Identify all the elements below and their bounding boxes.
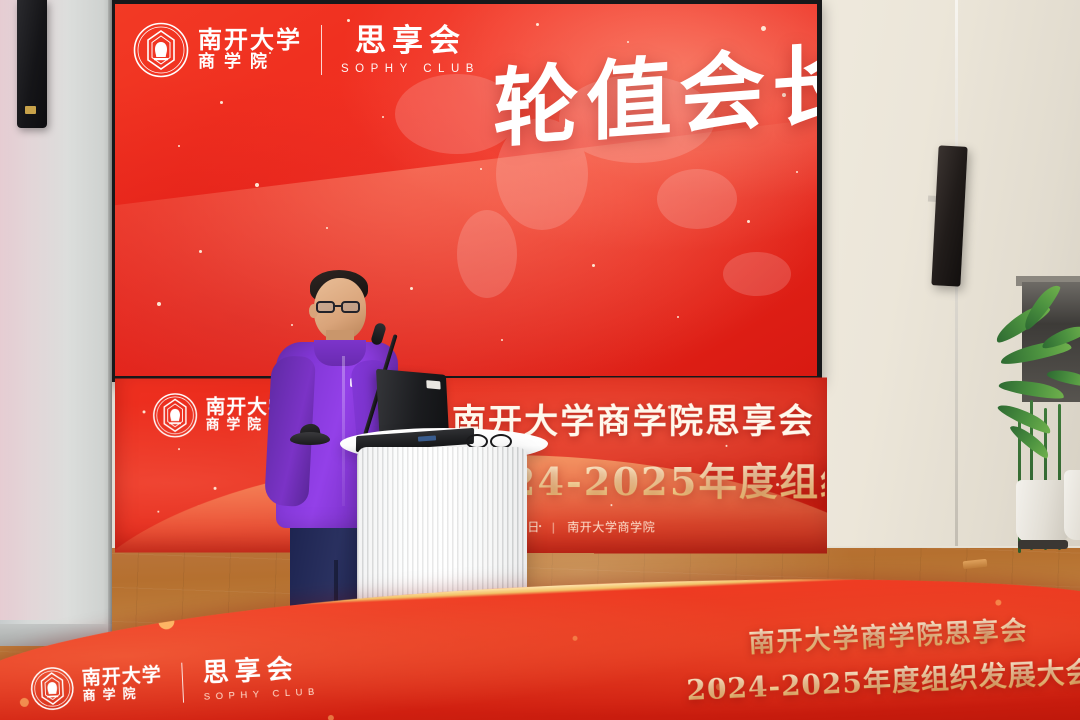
eyeglasses-on-desk-icon xyxy=(466,434,512,446)
club-name-block: 思享会 SOPHY CLUB xyxy=(341,25,480,75)
laptop-sticker xyxy=(426,380,440,389)
school-name-cn: 商学院 xyxy=(82,686,163,705)
plant-pot xyxy=(1016,480,1070,542)
banner-event-title: 南开大学商学院思享会 2024-2025年度组织发展大会 xyxy=(684,607,1080,708)
nankai-seal-icon xyxy=(152,392,197,438)
nankai-seal-icon xyxy=(133,22,189,78)
banner-name-block: 南开大学 商学院 xyxy=(81,666,163,705)
banner-gold-dot xyxy=(328,715,334,720)
jacket-zipper xyxy=(342,356,345,506)
club-name-cn: 思享会 xyxy=(202,655,319,688)
plant-pot-secondary xyxy=(1064,470,1080,540)
banner-gold-dot xyxy=(158,613,175,630)
microphone-base xyxy=(290,432,330,445)
university-name-cn: 南开大学 xyxy=(81,666,162,690)
banner-logo-lockup: 南开大学 商学院 思享会 SOPHY CLUB xyxy=(29,655,320,712)
backdrop-venue: 南开大学商学院 xyxy=(567,520,655,534)
lens-right xyxy=(341,301,360,313)
banner-gold-dot xyxy=(996,599,1002,605)
speaker-badge xyxy=(25,106,36,114)
nankai-seal-icon xyxy=(29,666,75,712)
lens-left xyxy=(316,301,335,313)
plant-pot-base xyxy=(1018,540,1068,549)
club-name-cn: 思享会 xyxy=(341,25,480,58)
nankai-name-block: 南开大学 商学院 xyxy=(198,27,302,73)
led-logo-lockup: 南开大学 商学院 思享会 SOPHY CLUB xyxy=(133,22,480,78)
logo-divider xyxy=(321,25,322,75)
backdrop-date-separator: | xyxy=(552,520,556,534)
eyeglasses-worn-icon xyxy=(316,301,364,313)
university-name-cn: 南开大学 xyxy=(198,27,302,52)
banner-gold-dot xyxy=(572,636,577,641)
club-name-en: SOPHY CLUB xyxy=(204,687,320,703)
banner-club-block: 思享会 SOPHY CLUB xyxy=(202,655,320,703)
photo-scene: 南开大学 商学院 思享会 SOPHY CLUB 轮值会长致辞 xyxy=(0,0,1080,720)
banner-logo-divider xyxy=(181,663,184,703)
school-name-cn: 商学院 xyxy=(198,52,302,72)
led-screen: 南开大学 商学院 思享会 SOPHY CLUB 轮值会长致辞 xyxy=(115,4,817,376)
banner-gold-dot xyxy=(20,698,29,707)
club-name-en: SOPHY CLUB xyxy=(341,63,480,75)
wall-speaker-left-icon xyxy=(17,0,47,128)
led-screen-bezel: 南开大学 商学院 思享会 SOPHY CLUB 轮值会长致辞 xyxy=(110,0,822,382)
